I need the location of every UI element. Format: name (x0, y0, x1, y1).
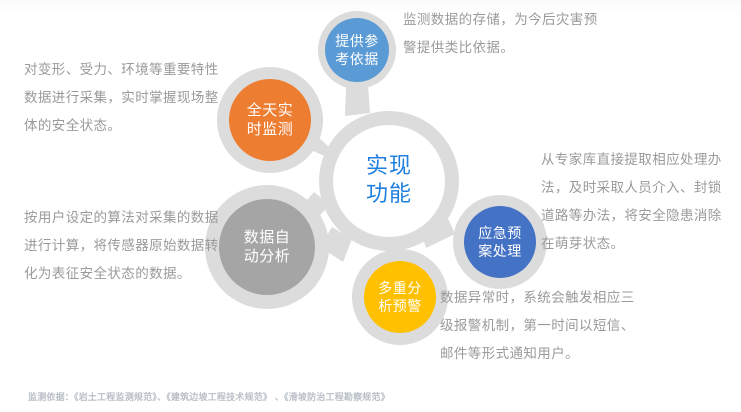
desc-multi-level-alarm: 数据异常时，系统会触发相应三级报警机制，第一时间以短信、邮件等形式通知用户。 (440, 284, 640, 368)
footer-note: 监测依据：《岩土工程监测规范》、《建筑边坡工程技术规范》 、《滑坡防治工程勘察规… (28, 391, 390, 403)
desc-emergency-plan: 从专家库直接提取相应处理办法，及时采取人员介入、封锁道路等办法，将安全隐患消除在… (541, 146, 735, 258)
center-hub-label: 实现 功能 (339, 152, 439, 208)
node-multi-level-alarm-circle[interactable] (364, 261, 436, 333)
desc-all-day-monitoring: 对变形、受力、环境等重要特性数据进行采集，实时掌握现场整体的安全状态。 (24, 56, 220, 140)
node-auto-data-analysis-circle[interactable] (219, 199, 315, 295)
desc-auto-data-analysis: 按用户设定的算法对采集的数据进行计算，将传感器原始数据转化为表征安全状态的数据。 (24, 204, 220, 288)
node-provide-reference-circle[interactable] (325, 18, 389, 82)
node-emergency-plan-circle[interactable] (464, 206, 536, 278)
node-all-day-monitoring-circle[interactable] (229, 79, 311, 161)
desc-provide-reference: 监测数据的存储，为今后灾害预警提供类比依据。 (403, 6, 603, 62)
slide-canvas: 实现 功能 提供参 考依据 全天实 时监测 数据自 动分析 多重分 析预警 应急… (0, 0, 741, 412)
